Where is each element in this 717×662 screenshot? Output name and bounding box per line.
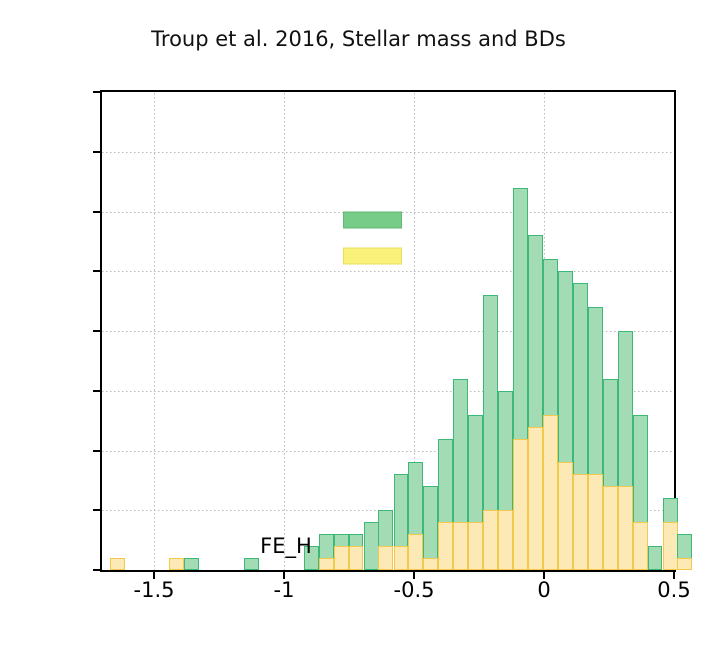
y-axis-tick [93, 330, 102, 332]
histogram-bar-yellow [453, 522, 468, 570]
x-axis-tick-label: -1.5 [134, 578, 175, 602]
x-axis-tick-label: 0.5 [657, 578, 690, 602]
histogram-bar-yellow [543, 415, 558, 570]
histogram-bar-yellow [394, 546, 409, 570]
histogram-bar-yellow [663, 522, 678, 570]
gridline-horizontal [102, 152, 674, 153]
x-axis-tick-label: 0 [537, 578, 550, 602]
plot-area: -1.5-1-0.500.50510152025303540 0.013 < M… [100, 90, 676, 572]
histogram-bar-green [364, 522, 379, 570]
x-axis-tick-label: -0.5 [394, 578, 435, 602]
histogram-bar-yellow [468, 522, 483, 570]
histogram-bar-yellow [573, 474, 588, 570]
histogram-bar-yellow [618, 486, 633, 570]
histogram-bar-yellow [633, 522, 648, 570]
chart-title: Troup et al. 2016, Stellar mass and BDs [0, 27, 717, 51]
histogram-bar-yellow [334, 546, 349, 570]
gridline-horizontal [102, 271, 674, 272]
histogram-bar-yellow [169, 558, 184, 570]
histogram-bar-yellow [513, 439, 528, 570]
y-axis-tick [93, 151, 102, 153]
x-axis-label: FE_H [260, 534, 312, 558]
histogram-bar-yellow [110, 558, 125, 570]
histogram-bar-yellow [588, 474, 603, 570]
y-axis-tick [93, 569, 102, 571]
y-axis-tick [93, 450, 102, 452]
histogram-bar-yellow [378, 546, 393, 570]
histogram-bar-yellow [423, 558, 438, 570]
histogram-bar-yellow [438, 522, 453, 570]
histogram-bar-yellow [349, 546, 364, 570]
histogram-bar-green [184, 558, 199, 570]
x-axis-tick-label: -1 [274, 578, 295, 602]
histogram-bar-yellow [319, 558, 334, 570]
y-axis-tick [93, 211, 102, 213]
histogram-bar-yellow [498, 510, 513, 570]
legend-key-2 [343, 248, 402, 265]
chart-figure: Troup et al. 2016, Stellar mass and BDs … [0, 0, 717, 662]
y-axis-tick [93, 91, 102, 93]
histogram-bar-yellow [603, 486, 618, 570]
histogram-bar-green [648, 546, 663, 570]
y-axis-tick [93, 509, 102, 511]
y-axis-tick [93, 270, 102, 272]
histogram-bar-yellow [483, 510, 498, 570]
histogram-bar-yellow [408, 534, 423, 570]
histogram-bar-green [244, 558, 259, 570]
y-axis-tick [93, 390, 102, 392]
histogram-bar-yellow [558, 462, 573, 570]
histogram-bar-yellow [528, 427, 543, 570]
legend-key-1 [343, 212, 402, 229]
histogram-bar-yellow [677, 558, 692, 570]
